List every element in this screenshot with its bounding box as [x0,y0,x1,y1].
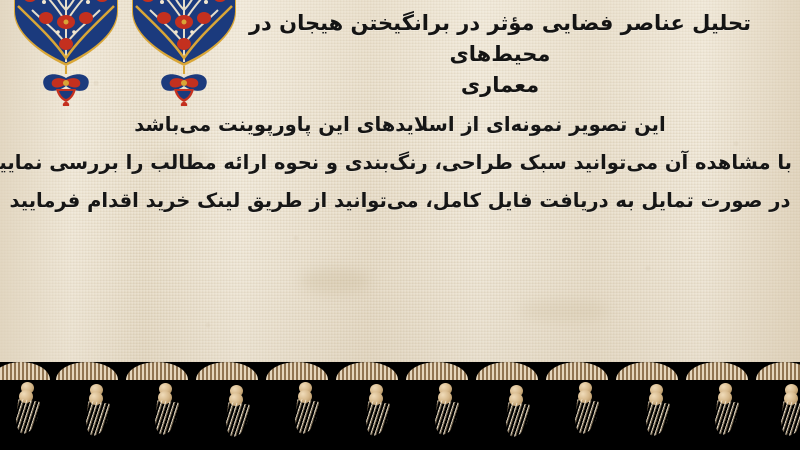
tassel-brush [293,399,320,436]
fabric-stain [300,268,370,294]
fringe-tassel [152,368,186,444]
fringe-tassel [642,368,676,444]
tassel-brush [224,402,251,439]
tassel-brush [433,400,460,437]
slide-title-line-1: تحلیل عناصر فضایی مؤثر در برانگیختن هیجا… [210,8,790,70]
slide-canvas: تحلیل عناصر فضایی مؤثر در برانگیختن هیجا… [0,0,800,450]
slide-title: تحلیل عناصر فضایی مؤثر در برانگیختن هیجا… [210,8,790,101]
tassel-brush [364,401,391,438]
tassel-brush [573,399,600,436]
carpet-fringe-band [0,362,800,450]
fringe-tassel [712,368,746,444]
tassel-brush [14,399,41,436]
tassel-brush [779,401,800,438]
slide-body-line-2: با مشاهده آن می‌توانید سبک طراحی، رنگ‌بن… [8,144,792,182]
slide-title-line-2: معماری [210,70,790,101]
fabric-stain [520,300,610,322]
slide-body-line-1: این تصویر نمونه‌ای از اسلایدهای این پاور… [8,106,792,144]
fringe-tassel [502,368,536,444]
fringe-tassel [778,368,800,444]
fringe-tassel [14,368,48,444]
medallion-icon [12,0,120,106]
fringe-tassel [82,368,116,444]
fringe-tassel [572,368,606,444]
tassel-brush [644,401,671,438]
tassel-brush [713,400,740,437]
slide-body: این تصویر نمونه‌ای از اسلایدهای این پاور… [8,106,792,220]
tassel-brush [504,402,531,439]
fringe-tassel [292,368,326,444]
tassel-brush [84,401,111,438]
fringe-tassel [362,368,396,444]
fringe-tassel [222,368,256,444]
slide-body-line-3: در صورت تمایل به دریافت فایل کامل، می‌تو… [8,182,792,220]
fringe-tassel [432,368,466,444]
carpet-selvedge-edge [0,362,800,378]
tassel-brush [153,400,180,437]
persian-medallion-pendant-left [12,0,120,106]
